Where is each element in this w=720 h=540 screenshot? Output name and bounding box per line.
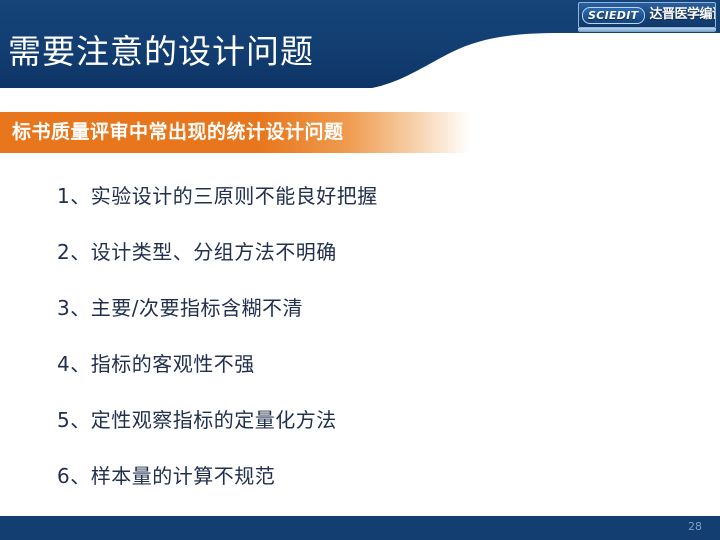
- footer-bar: [0, 516, 720, 540]
- section-banner-heading: 标书质量评审中常出现的统计设计问题: [12, 118, 344, 146]
- list-item: 4、指标的客观性不强: [57, 351, 677, 407]
- logo-badge-text: SCIEDIT: [582, 7, 645, 24]
- list-item: 3、主要/次要指标含糊不清: [57, 295, 677, 351]
- page-number: 28: [688, 520, 702, 534]
- list-item: 1、实验设计的三原则不能良好把握: [57, 183, 677, 239]
- list-item: 2、设计类型、分组方法不明确: [57, 239, 677, 295]
- presentation-slide: 需要注意的设计问题 SCIEDIT 达晋医学编译 标书质量评审中常出现的统计设计…: [0, 0, 720, 540]
- brand-logo: SCIEDIT 达晋医学编译: [578, 2, 716, 28]
- list-item: 5、定性观察指标的定量化方法: [57, 407, 677, 463]
- logo-chinese-text: 达晋医学编译: [649, 7, 716, 23]
- list-item: 6、样本量的计算不规范: [57, 463, 677, 519]
- page-title: 需要注意的设计问题: [8, 28, 314, 76]
- logo-underline-bar: [578, 28, 716, 32]
- content-list: 1、实验设计的三原则不能良好把握 2、设计类型、分组方法不明确 3、主要/次要指…: [57, 183, 677, 519]
